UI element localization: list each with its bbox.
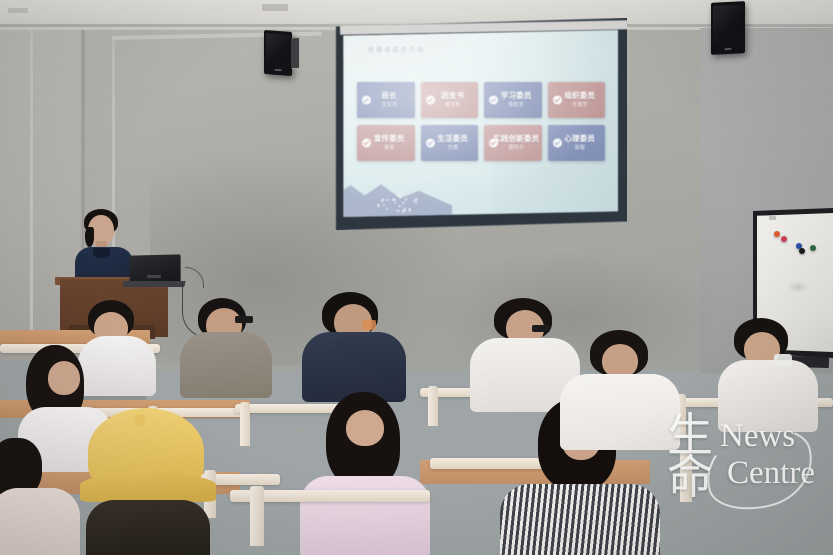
torso-striped [500, 484, 660, 555]
committee-name: 王文洋 [381, 103, 397, 108]
magnet-icon [810, 245, 816, 251]
check-icon [362, 139, 371, 148]
magnet-icon [781, 236, 787, 242]
check-icon [489, 96, 498, 105]
ceiling-vent-secondary-icon [8, 8, 28, 13]
presenter-collar [93, 248, 110, 258]
torso [560, 374, 680, 450]
slide-decoration-dots [368, 193, 418, 213]
slide-canvas: 班委会成员介绍 班长王文洋团支书崔文秋学习委员陈松芳组织委员王浩宇宣传委员吴昊生… [342, 30, 618, 217]
head [346, 410, 384, 446]
committee-name: 周可夕 [508, 146, 524, 151]
whiteboard-smudge [787, 281, 809, 293]
student-back-row-center [180, 298, 272, 398]
torso [0, 488, 80, 555]
speaker-grille [713, 4, 743, 46]
projection-screen: 班委会成员介绍 班长王文洋团支书崔文秋学习委员陈松芳组织委员王浩宇宣传委员吴昊生… [330, 18, 627, 230]
student-mid-row-pink [300, 392, 430, 555]
committee-card-grid: 班长王文洋团支书崔文秋学习委员陈松芳组织委员王浩宇宣传委员吴昊生活委员方博实践创… [357, 82, 605, 161]
committee-name: 张程 [575, 146, 585, 151]
committee-role: 心理委员 [564, 135, 595, 142]
face-mask-icon [774, 354, 792, 366]
check-icon [426, 96, 435, 105]
speaker-led [725, 48, 732, 50]
whiteboard-clip [769, 216, 776, 220]
speaker-grille [266, 33, 290, 67]
bench-post [240, 402, 250, 446]
cap-button [134, 414, 146, 426]
student-front-row-white [560, 330, 680, 448]
committee-name: 王浩宇 [572, 103, 588, 108]
speaker-led [275, 69, 282, 71]
committee-role: 班长 [382, 92, 397, 99]
committee-card: 心理委员张程 [548, 125, 606, 161]
committee-name: 陈松芳 [508, 103, 524, 108]
student-back-row-right [302, 292, 406, 400]
check-icon [489, 139, 498, 148]
committee-role: 生活委员 [437, 135, 468, 142]
lecture-hall-photo: 班委会成员介绍 班长王文洋团支书崔文秋学习委员陈松芳组织委员王浩宇宣传委员吴昊生… [0, 0, 833, 555]
committee-name: 吴昊 [384, 146, 394, 151]
student-mid-row-yellow-cap [80, 408, 210, 555]
check-icon [553, 139, 562, 148]
committee-card: 宣传委员吴昊 [357, 125, 415, 161]
committee-role: 宣传委员 [374, 135, 405, 142]
magnet-icon [774, 231, 780, 237]
eyeglasses-icon [235, 316, 253, 323]
laptop-keyboard [122, 281, 185, 287]
laptop-logo [147, 275, 161, 278]
committee-role: 学习委员 [501, 92, 532, 99]
committee-card: 团支书崔文秋 [421, 82, 479, 118]
watermark-swoosh [697, 418, 822, 520]
committee-card: 学习委员陈松芳 [484, 82, 542, 118]
cap-brim [80, 474, 216, 502]
student-edge-left [0, 438, 80, 555]
committee-card: 班长王文洋 [357, 82, 415, 118]
magnet-icon [799, 248, 805, 254]
check-icon [553, 96, 562, 105]
laptop-screen [130, 254, 181, 283]
ceiling-speaker-right-icon [711, 1, 745, 55]
head [602, 344, 638, 378]
slide-header-text: 班委会成员介绍 [368, 45, 425, 54]
committee-card: 实践创新委员周可夕 [484, 125, 542, 161]
watermark-centre-text: Centre [727, 455, 815, 492]
ceiling-speaker-left-icon [264, 30, 292, 76]
wall-conduit-left [30, 30, 33, 330]
bench-post-foreground [250, 486, 264, 546]
bench-post [680, 452, 692, 502]
committee-role: 团支书 [441, 92, 464, 99]
eyeglasses-icon [532, 325, 550, 332]
student-far-right [718, 318, 818, 430]
committee-card: 生活委员方博 [421, 125, 479, 161]
committee-name: 方博 [448, 146, 458, 151]
microphone-cable-upper [185, 267, 204, 288]
torso [86, 500, 210, 555]
torso [300, 476, 430, 555]
lanyard-icon [362, 320, 376, 330]
check-icon [362, 96, 371, 105]
presenter-hair-side [85, 227, 94, 247]
committee-role: 实践创新委员 [493, 135, 539, 142]
head [48, 361, 80, 395]
committee-role: 组织委员 [564, 92, 595, 99]
committee-name: 崔文秋 [445, 103, 461, 108]
committee-card: 组织委员王浩宇 [548, 82, 606, 118]
torso [718, 360, 818, 432]
check-icon [426, 139, 435, 148]
torso [180, 332, 272, 398]
ceiling-vent-icon [262, 4, 288, 11]
